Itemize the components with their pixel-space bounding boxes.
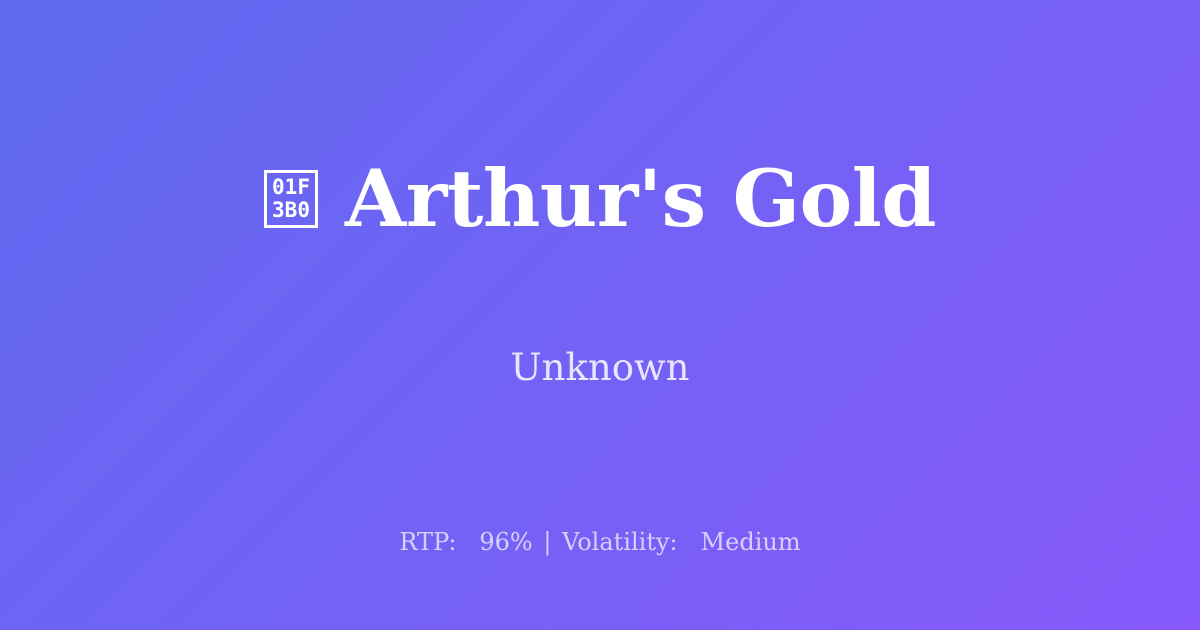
tofu-codepoint-low: 3B0 <box>272 199 310 222</box>
game-preview-card: 01F 3B0 Arthur's Gold Unknown RTP: 96% |… <box>0 0 1200 630</box>
rtp-value: 96% <box>479 528 532 556</box>
hero-section: 01F 3B0 Arthur's Gold Unknown <box>0 0 1200 496</box>
rtp-label: RTP: <box>399 528 456 556</box>
title-row: 01F 3B0 Arthur's Gold <box>264 106 936 291</box>
stats-separator: | <box>540 528 554 556</box>
game-stats-line: RTP: 96% | Volatility: Medium <box>0 528 1200 556</box>
game-provider-subtitle: Unknown <box>510 349 689 386</box>
volatility-value: Medium <box>701 528 801 556</box>
page-title: Arthur's Gold <box>345 159 936 238</box>
tofu-codepoint-high: 01F <box>272 176 310 199</box>
slot-machine-icon: 01F 3B0 <box>264 170 318 228</box>
volatility-label: Volatility: <box>562 528 678 556</box>
